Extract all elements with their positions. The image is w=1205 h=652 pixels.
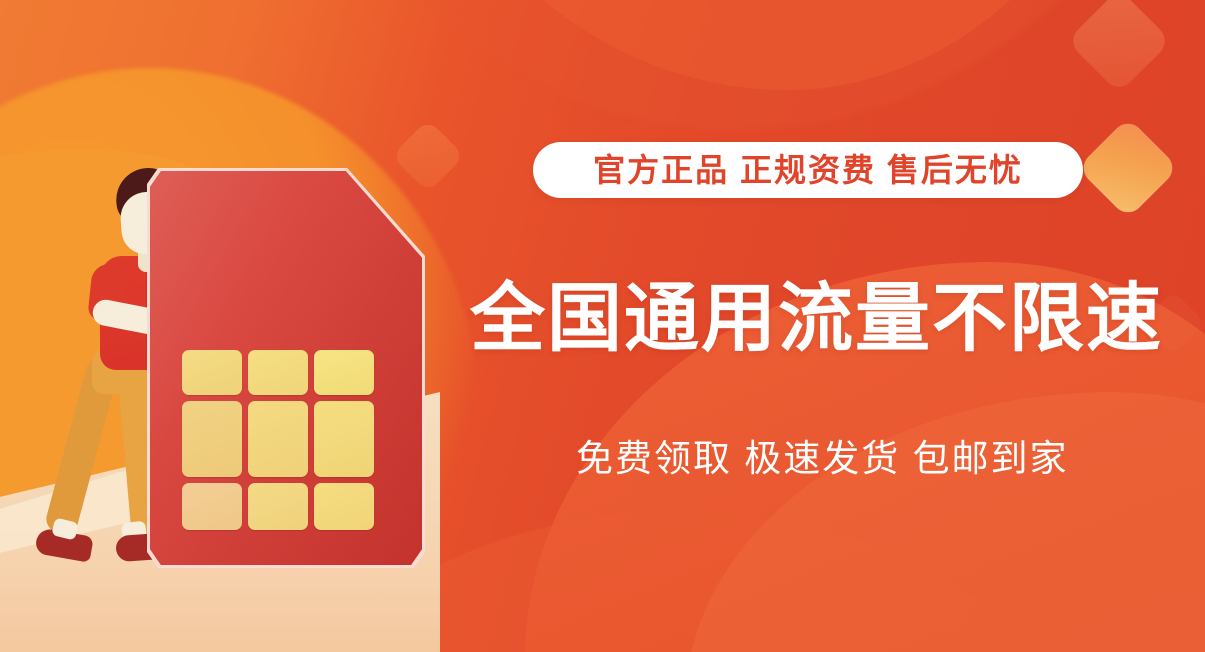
sim-contact-pad (248, 401, 308, 477)
sim-contact-pad (314, 401, 374, 477)
promo-banner: 官方正品 正规资费 售后无忧 全国通用流量不限速 免费领取 极速发货 包邮到家 (0, 0, 1205, 652)
headline: 全国通用流量不限速 (470, 278, 1150, 359)
sim-contact-pad (248, 350, 308, 395)
sim-card-illustration (147, 168, 425, 568)
subheadline: 免费领取 极速发货 包邮到家 (576, 437, 1196, 481)
sim-contact-pad (182, 350, 242, 395)
sim-contact-pad (248, 483, 308, 530)
trust-badge: 官方正品 正规资费 售后无忧 (533, 142, 1083, 198)
sim-contact-pad (182, 483, 242, 530)
sim-card-contact-grid (182, 350, 374, 530)
sim-contact-pad (314, 350, 374, 395)
sim-contact-pad (182, 401, 242, 477)
trust-badge-text: 官方正品 正规资费 售后无忧 (593, 154, 1023, 186)
sim-contact-pad (314, 483, 374, 530)
